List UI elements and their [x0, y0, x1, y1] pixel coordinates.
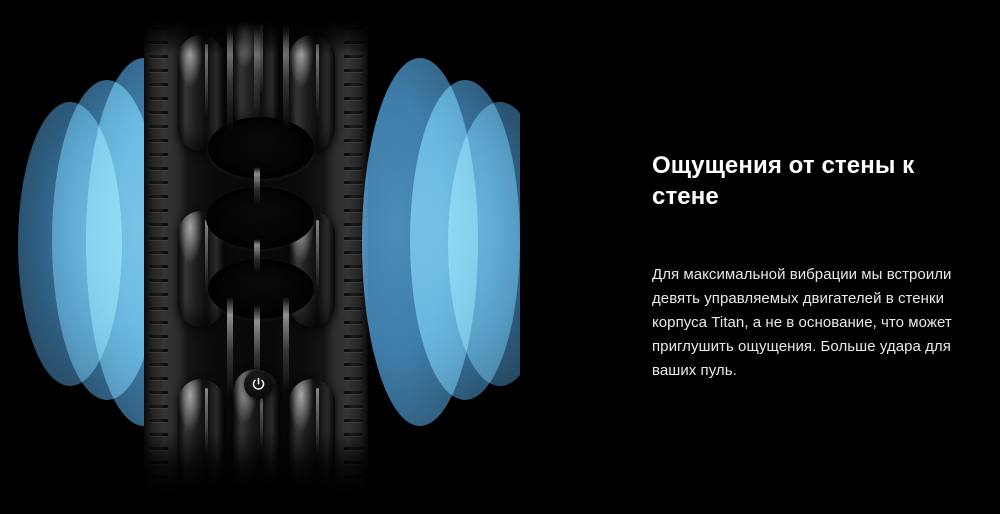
ridge-dash: [149, 237, 168, 240]
ridge-dash: [149, 349, 168, 352]
power-icon: [251, 377, 266, 392]
ridge-dash: [344, 223, 363, 226]
product-body: [144, 21, 368, 492]
product-visual: [0, 0, 520, 514]
highlight-seam: [227, 297, 233, 397]
ridge-dash: [149, 83, 168, 86]
ridge-dash: [344, 153, 363, 156]
ridge-dash: [149, 195, 168, 198]
ridge-dash: [344, 251, 363, 254]
promo-banner: Ощущения от стены к стене Для максимальн…: [0, 0, 1000, 514]
ridge-dash: [344, 391, 363, 394]
ridge-dash: [344, 349, 363, 352]
highlight-seam: [254, 167, 260, 205]
ridge-dash: [149, 251, 168, 254]
power-button[interactable]: [244, 370, 273, 399]
ridge-dash: [344, 111, 363, 114]
ridge-dash: [149, 223, 168, 226]
chamber-oval: [206, 187, 314, 249]
ridge-dash: [344, 181, 363, 184]
highlight-seam: [283, 297, 289, 393]
ridge-dash: [344, 167, 363, 170]
ridge-dash: [149, 69, 168, 72]
highlight-seam: [254, 239, 260, 273]
ridge-dash: [149, 111, 168, 114]
ridge-dash: [344, 335, 363, 338]
ridge-dash: [149, 209, 168, 212]
section-body: Для максимальной вибрации мы встроили де…: [652, 263, 952, 383]
ridge-dash: [149, 153, 168, 156]
ridge-dash: [149, 391, 168, 394]
ridge-dash: [149, 97, 168, 100]
chamber-oval: [208, 259, 314, 319]
ridge-dash: [149, 321, 168, 324]
ridge-dash: [149, 405, 168, 408]
ridge-dash: [149, 363, 168, 366]
ridge-dash: [344, 405, 363, 408]
ridge-dash: [344, 97, 363, 100]
ridge-dash: [344, 69, 363, 72]
top-shadow: [144, 21, 368, 55]
ridge-dash: [344, 265, 363, 268]
ridge-dash: [149, 377, 168, 380]
copy-block: Ощущения от стены к стене Для максимальн…: [652, 150, 952, 383]
ridge-dash: [149, 265, 168, 268]
ridge-dash: [149, 279, 168, 282]
ridge-band-left: [144, 21, 174, 492]
ridge-dash: [149, 125, 168, 128]
ridge-dash: [149, 307, 168, 310]
ridge-dash: [344, 125, 363, 128]
chamber-oval: [208, 117, 314, 179]
section-heading: Ощущения от стены к стене: [652, 150, 952, 212]
ridge-dash: [344, 321, 363, 324]
ridge-dash: [344, 55, 363, 58]
bottom-shadow: [144, 430, 368, 492]
ridge-dash: [149, 167, 168, 170]
ridge-dash: [344, 419, 363, 422]
ridge-dash: [344, 139, 363, 142]
ridge-dash: [344, 307, 363, 310]
ridge-dash: [344, 363, 363, 366]
ridge-dash: [149, 181, 168, 184]
ridge-dash: [149, 55, 168, 58]
ridge-dash: [149, 419, 168, 422]
ridge-dash: [344, 237, 363, 240]
ridge-dash: [344, 293, 363, 296]
ridge-dash: [344, 209, 363, 212]
ridge-dash: [344, 377, 363, 380]
ridge-dash: [149, 293, 168, 296]
ridge-dash: [344, 83, 363, 86]
ridge-dash: [344, 279, 363, 282]
ridge-dash: [149, 335, 168, 338]
ridge-dash: [149, 139, 168, 142]
ridge-dash: [344, 195, 363, 198]
